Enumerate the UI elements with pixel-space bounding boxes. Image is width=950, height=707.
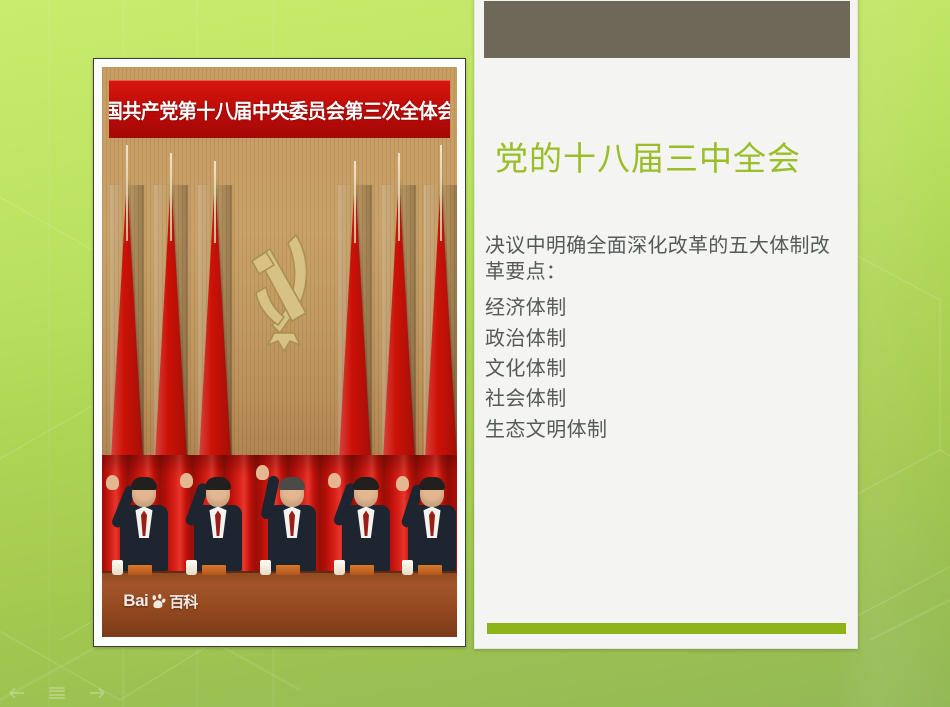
raised-hand — [328, 473, 341, 488]
list-item: 文化体制 — [485, 353, 845, 383]
name-plate — [202, 565, 226, 575]
previous-slide-button[interactable] — [4, 685, 26, 701]
menu-icon — [49, 687, 65, 699]
delegate — [266, 479, 318, 571]
tea-cup — [186, 560, 197, 575]
raised-hand — [396, 476, 409, 491]
intro-paragraph: 决议中明确全面深化改革的五大体制改革要点： — [485, 233, 845, 284]
delegate — [192, 479, 244, 571]
next-slide-button[interactable] — [88, 685, 110, 701]
delegate-hair — [279, 477, 305, 490]
name-plate — [276, 565, 300, 575]
list-item: 政治体制 — [485, 323, 845, 353]
delegate-hair — [419, 477, 445, 490]
raised-hand — [106, 475, 119, 490]
header-color-block — [484, 1, 850, 58]
conference-photo-frame: 中国共产党第十八届中央委员会第三次全体会议 — [93, 58, 466, 647]
reform-points-list: 经济体制 政治体制 文化体制 社会体制 生态文明体制 — [485, 292, 845, 444]
delegate-hair — [205, 477, 231, 490]
content-card: 党的十八届三中全会 决议中明确全面深化改革的五大体制改革要点： 经济体制 政治体… — [474, 0, 858, 649]
meeting-banner: 中国共产党第十八届中央委员会第三次全体会议 — [109, 80, 450, 138]
list-item: 经济体制 — [485, 292, 845, 322]
tea-cup — [402, 560, 413, 575]
arrow-left-icon — [5, 687, 25, 699]
list-item: 社会体制 — [485, 383, 845, 413]
name-plate — [350, 565, 374, 575]
delegate — [406, 479, 457, 571]
banner-pole — [126, 145, 128, 241]
page-title: 党的十八届三中全会 — [495, 137, 845, 181]
raised-hand — [256, 465, 269, 480]
delegate-hair — [131, 477, 157, 490]
slideshow-menu-button[interactable] — [46, 685, 68, 701]
tea-cup — [334, 560, 345, 575]
arrow-right-icon — [89, 687, 109, 699]
meeting-banner-text: 中国共产党第十八届中央委员会第三次全体会议 — [109, 95, 450, 124]
conference-photo: 中国共产党第十八届中央委员会第三次全体会议 — [102, 67, 457, 637]
delegate — [340, 479, 392, 571]
tea-cup — [112, 560, 123, 575]
delegate-hair — [353, 477, 379, 490]
banner-pole — [170, 153, 172, 241]
conference-table — [102, 571, 457, 637]
banner-pole — [354, 161, 356, 243]
raised-hand — [180, 473, 193, 488]
banner-pole — [440, 145, 442, 241]
presentation-slide: 中国共产党第十八届中央委员会第三次全体会议 — [0, 0, 950, 707]
title-area: 党的十八届三中全会 — [495, 137, 845, 181]
body-content: 决议中明确全面深化改革的五大体制改革要点： 经济体制 政治体制 文化体制 社会体… — [485, 233, 845, 444]
banner-pole — [214, 161, 216, 243]
tea-cup — [260, 560, 271, 575]
delegate — [118, 479, 170, 571]
accent-bar — [487, 623, 846, 634]
name-plate — [418, 565, 442, 575]
list-item: 生态文明体制 — [485, 414, 845, 444]
hammer-and-sickle-emblem — [238, 221, 322, 353]
banner-pole — [398, 153, 400, 241]
slideshow-controls[interactable] — [4, 685, 110, 701]
name-plate — [128, 565, 152, 575]
